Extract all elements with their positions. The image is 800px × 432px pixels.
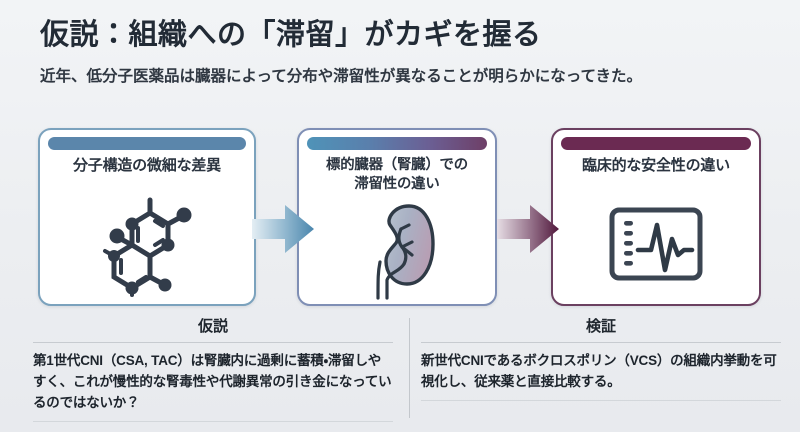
card-title-line-1: 標的臓器（腎臓）での <box>307 156 487 175</box>
column-divider <box>409 318 410 418</box>
column-body-text: 新世代CNIであるボクロスポリン（VCS）の組織内挙動を可視化し、従来薬と直接比… <box>421 351 781 393</box>
ecg-monitor-icon <box>553 206 759 288</box>
card-accent-bar <box>307 137 487 150</box>
card-accent-bar <box>48 137 246 150</box>
column-verification: 検証 新世代CNIであるボクロスポリン（VCS）の組織内挙動を可視化し、従来薬と… <box>421 316 781 401</box>
card-clinical-safety: 臨床的な安全性の違い <box>551 128 761 306</box>
kidney-icon <box>299 198 495 302</box>
slide-header: 仮説：組織への「滞留」がカギを握る 近年、低分子医薬品は臓器によって分布や滞留性… <box>40 18 770 87</box>
page-subtitle: 近年、低分子医薬品は臓器によって分布や滞留性が異なることが明らかになってきた。 <box>40 67 770 87</box>
molecule-icon <box>40 194 254 298</box>
column-rule-bottom <box>33 421 393 422</box>
card-target-organ-retention: 標的臓器（腎臓）での 滞留性の違い <box>297 128 497 306</box>
column-heading: 仮説 <box>33 318 393 336</box>
column-rule-top <box>421 342 781 343</box>
page-title: 仮説：組織への「滞留」がカギを握る <box>40 18 770 53</box>
arrow-right-icon-2 <box>497 200 559 258</box>
card-molecular-structure: 分子構造の微細な差異 <box>38 128 256 306</box>
card-title: 分子構造の微細な差異 <box>48 156 246 176</box>
cards-row: 分子構造の微細な差異 <box>0 128 800 308</box>
bottom-section: 仮説 第1世代CNI（CSA, TAC）は腎臓内に過剰に蓄積・滞留しやすく、これ… <box>0 316 800 432</box>
card-accent-bar <box>561 137 751 150</box>
card-title-line-2: 滞留性の違い <box>307 175 487 194</box>
column-hypothesis: 仮説 第1世代CNI（CSA, TAC）は腎臓内に過剰に蓄積・滞留しやすく、これ… <box>33 316 393 422</box>
slide-root: 仮説：組織への「滞留」がカギを握る 近年、低分子医薬品は臓器によって分布や滞留性… <box>0 0 800 432</box>
card-title: 標的臓器（腎臓）での 滞留性の違い <box>307 156 487 194</box>
column-heading: 検証 <box>421 318 781 336</box>
arrow-right-icon-1 <box>252 200 314 258</box>
column-rule-bottom <box>421 400 781 401</box>
column-rule-top <box>33 342 393 343</box>
column-body-text: 第1世代CNI（CSA, TAC）は腎臓内に過剰に蓄積・滞留しやすく、これが慢性… <box>33 351 393 414</box>
card-title: 臨床的な安全性の違い <box>561 156 751 176</box>
